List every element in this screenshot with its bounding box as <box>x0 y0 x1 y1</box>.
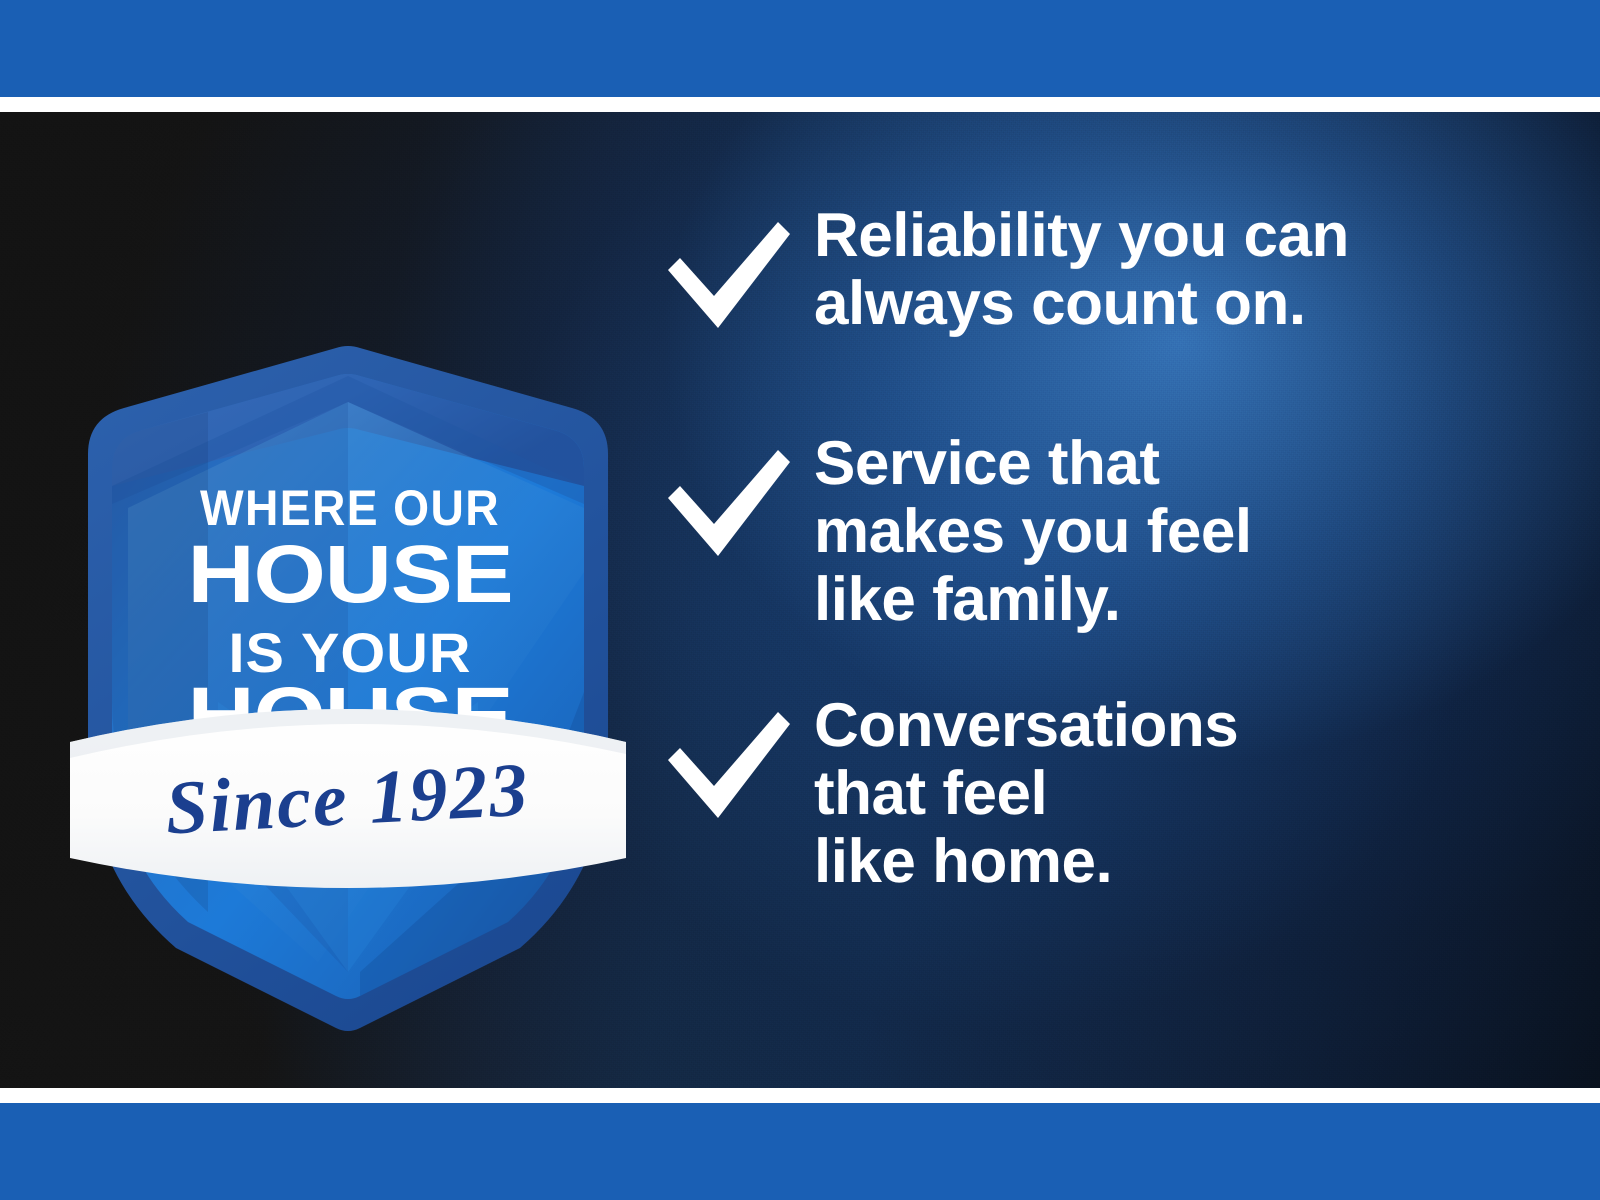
benefit-text: Service that makes you feel like family. <box>814 430 1252 634</box>
benefit-item: Service that makes you feel like family. <box>662 430 1562 634</box>
top-brand-bar <box>0 0 1600 97</box>
shield-logo: WHERE OUR HOUSE IS YOUR HOUSE Since 1923 <box>68 272 628 1042</box>
logo-line-2: HOUSE <box>188 529 513 620</box>
benefit-item: Conversations that feel like home. <box>662 692 1562 896</box>
benefit-text: Reliability you can always count on. <box>814 202 1349 338</box>
benefit-text: Conversations that feel like home. <box>814 692 1238 896</box>
benefits-list: Reliability you can always count on. Ser… <box>662 202 1562 896</box>
top-white-divider <box>0 97 1600 112</box>
check-icon <box>662 444 794 562</box>
benefit-item: Reliability you can always count on. <box>662 202 1562 338</box>
content-stage: WHERE OUR HOUSE IS YOUR HOUSE Since 1923 <box>0 112 1600 1088</box>
since-banner: Since 1923 <box>70 709 626 888</box>
logo-line-1: WHERE OUR <box>200 480 500 536</box>
promo-graphic: WHERE OUR HOUSE IS YOUR HOUSE Since 1923 <box>0 0 1600 1200</box>
check-icon <box>662 216 794 334</box>
bottom-brand-bar <box>0 1103 1600 1200</box>
bottom-white-divider <box>0 1088 1600 1103</box>
check-icon <box>662 706 794 824</box>
